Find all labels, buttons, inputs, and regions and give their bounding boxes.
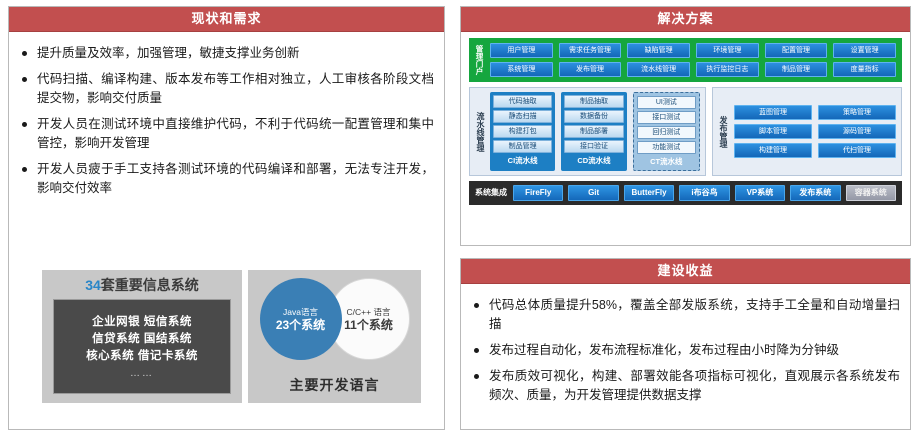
list-item: 提升质量及效率，加强管理，敏捷支撑业务创新 (19, 44, 434, 63)
venn-cpp-count: 11个系统 (344, 318, 393, 333)
systems-count-number: 34 (85, 277, 101, 293)
portal-item-environment-management[interactable]: 环境管理 (696, 43, 759, 58)
cd-step-interface-verify[interactable]: 接口验证 (564, 140, 623, 153)
languages-card: C/C++ 语言 11个系统 Java语言 23个系统 主要开发语言 (248, 270, 421, 403)
list-item: 发布质效可视化，构建、部署效能各项指标可视化，直观展示各系统发布频次、质量，为开… (471, 367, 900, 405)
ct-step-interface-test[interactable]: 接口测试 (637, 111, 696, 124)
portal-item-metrics[interactable]: 度量指标 (833, 62, 896, 77)
portal-item-user-management[interactable]: 用户管理 (490, 43, 553, 58)
integration-item-release-system[interactable]: 发布系统 (790, 185, 840, 201)
list-item: 代码扫描、编译构建、版本发布等工作相对独立，人工审核各阶段文档提交物，影响交付质… (19, 70, 434, 108)
pipeline-columns: 代码抽取 静态扫描 构建打包 制品管理 CI流水线 制品抽取 数据备份 制品部署… (490, 92, 700, 171)
venn-java-count: 23个系统 (276, 318, 325, 333)
management-portal-grid: 用户管理 需求任务管理 缺陷管理 环境管理 配置管理 设置管理 系统管理 发布管… (490, 43, 896, 77)
system-integration-label: 系统集成 (475, 188, 507, 198)
ci-step-build-package[interactable]: 构建打包 (493, 125, 552, 138)
integration-item-container-system[interactable]: 容器系统 (846, 185, 896, 201)
cd-step-artifact-deploy[interactable]: 制品部署 (564, 125, 623, 138)
list-item: 发布过程自动化，发布流程标准化，发布过程由小时降为分钟级 (471, 341, 900, 360)
portal-item-settings-management[interactable]: 设置管理 (833, 43, 896, 58)
cd-step-data-backup[interactable]: 数据备份 (564, 110, 623, 123)
portal-item-release-management[interactable]: 发布管理 (559, 62, 622, 77)
list-item: 代码总体质量提升58%，覆盖全部发版系统，支持手工全量和自动增量扫描 (471, 296, 900, 334)
panel-title-current-status: 现状和需求 (9, 7, 444, 32)
management-portal-label: 管理门户 (475, 45, 484, 75)
ci-step-artifact-management[interactable]: 制品管理 (493, 140, 552, 153)
integration-item-cuckoo[interactable]: i布谷鸟 (679, 185, 729, 201)
pipeline-caption-ct: CT流水线 (637, 156, 696, 167)
panel-solution: 解决方案 管理门户 用户管理 需求任务管理 缺陷管理 环境管理 配置管理 设置管… (460, 6, 911, 246)
integration-item-git[interactable]: Git (568, 185, 618, 201)
portal-item-artifact-management[interactable]: 制品管理 (765, 62, 828, 77)
panel-title-solution: 解决方案 (461, 7, 910, 32)
release-item-codescan-management[interactable]: 代扫管理 (818, 143, 896, 158)
systems-name-box: 企业网银 短信系统 信贷系统 国结系统 核心系统 借记卡系统 …… (53, 299, 231, 394)
list-item: 开发人员疲于手工支持各测试环境的代码编译和部署，无法专注开发，影响交付效率 (19, 160, 434, 198)
portal-item-system-management[interactable]: 系统管理 (490, 62, 553, 77)
portal-item-defect-management[interactable]: 缺陷管理 (627, 43, 690, 58)
release-item-source-management[interactable]: 源码管理 (818, 124, 896, 139)
ct-step-regression-test[interactable]: 回归测试 (637, 126, 696, 139)
systems-count-title: 34套重要信息系统 (85, 276, 199, 294)
release-management-block: 发布管理 蓝图管理 策略管理 脚本管理 源码管理 构建管理 代扫管理 (712, 87, 902, 176)
system-integration-items: FireFly Git ButterFly i布谷鸟 VP系统 发布系统 容器系… (513, 185, 896, 201)
current-status-bullet-list: 提升质量及效率，加强管理，敏捷支撑业务创新 代码扫描、编译构建、版本发布等工作相… (19, 44, 434, 198)
slide-root: 现状和需求 提升质量及效率，加强管理，敏捷支撑业务创新 代码扫描、编译构建、版本… (0, 0, 919, 436)
release-item-script-management[interactable]: 脚本管理 (734, 124, 812, 139)
release-management-label: 发布管理 (718, 116, 728, 148)
benefits-bullet-list: 代码总体质量提升58%，覆盖全部发版系统，支持手工全量和自动增量扫描 发布过程自… (471, 296, 900, 405)
integration-item-vp-system[interactable]: VP系统 (735, 185, 785, 201)
release-item-strategy-management[interactable]: 策略管理 (818, 105, 896, 120)
systems-count-card: 34套重要信息系统 企业网银 短信系统 信贷系统 国结系统 核心系统 借记卡系统… (42, 270, 242, 403)
panel-body-solution: 管理门户 用户管理 需求任务管理 缺陷管理 环境管理 配置管理 设置管理 系统管… (461, 32, 910, 212)
venn-cpp-language: C/C++ 语言 (347, 306, 391, 318)
list-item: 开发人员在测试环境中直接维护代码，不利于代码统一配置管理和集中管控，影响开发管理 (19, 115, 434, 153)
venn-caption: 主要开发语言 (248, 375, 421, 395)
release-item-build-management[interactable]: 构建管理 (734, 143, 812, 158)
release-item-blueprint-management[interactable]: 蓝图管理 (734, 105, 812, 120)
pipeline-management-block: 流水线管理 代码抽取 静态扫描 构建打包 制品管理 CI流水线 制品抽取 数据备… (469, 87, 706, 176)
portal-item-requirement-task-management[interactable]: 需求任务管理 (559, 43, 622, 58)
portal-item-execution-monitor-log[interactable]: 执行监控日志 (696, 62, 759, 77)
system-integration-block: 系统集成 FireFly Git ButterFly i布谷鸟 VP系统 发布系… (469, 181, 902, 205)
ct-step-function-test[interactable]: 功能测试 (637, 141, 696, 154)
panel-title-benefits: 建设收益 (461, 259, 910, 284)
pipeline-caption-ci: CI流水线 (493, 155, 552, 166)
pipeline-column-ct: UI测试 接口测试 回归测试 功能测试 CT流水线 (633, 92, 700, 171)
release-management-grid: 蓝图管理 策略管理 脚本管理 源码管理 构建管理 代扫管理 (734, 105, 896, 158)
portal-item-pipeline-management[interactable]: 流水线管理 (627, 62, 690, 77)
venn-circle-java: Java语言 23个系统 (260, 278, 342, 360)
systems-graphic: 34套重要信息系统 企业网银 短信系统 信贷系统 国结系统 核心系统 借记卡系统… (42, 270, 421, 403)
ci-step-static-scan[interactable]: 静态扫描 (493, 110, 552, 123)
pipeline-column-ci: 代码抽取 静态扫描 构建打包 制品管理 CI流水线 (490, 92, 555, 171)
system-row: 核心系统 借记卡系统 (86, 348, 198, 365)
ct-step-ui-test[interactable]: UI测试 (637, 96, 696, 109)
integration-item-firefly[interactable]: FireFly (513, 185, 563, 201)
panel-body-current-status: 提升质量及效率，加强管理，敏捷支撑业务创新 代码扫描、编译构建、版本发布等工作相… (9, 32, 444, 211)
management-portal-block: 管理门户 用户管理 需求任务管理 缺陷管理 环境管理 配置管理 设置管理 系统管… (469, 38, 902, 82)
systems-count-text: 套重要信息系统 (101, 277, 199, 293)
pipeline-management-label: 流水线管理 (475, 112, 485, 152)
panel-benefits: 建设收益 代码总体质量提升58%，覆盖全部发版系统，支持手工全量和自动增量扫描 … (460, 258, 911, 430)
pipeline-caption-cd: CD流水线 (564, 155, 623, 166)
pipeline-column-cd: 制品抽取 数据备份 制品部署 接口验证 CD流水线 (561, 92, 626, 171)
system-row: 信贷系统 国结系统 (92, 331, 192, 348)
system-ellipsis: …… (130, 368, 154, 379)
pipeline-and-release-row: 流水线管理 代码抽取 静态扫描 构建打包 制品管理 CI流水线 制品抽取 数据备… (469, 87, 902, 176)
panel-body-benefits: 代码总体质量提升58%，覆盖全部发版系统，支持手工全量和自动增量扫描 发布过程自… (461, 284, 910, 418)
cd-step-artifact-extract[interactable]: 制品抽取 (564, 95, 623, 108)
ci-step-code-extract[interactable]: 代码抽取 (493, 95, 552, 108)
panel-current-status: 现状和需求 提升质量及效率，加强管理，敏捷支撑业务创新 代码扫描、编译构建、版本… (8, 6, 445, 430)
system-row: 企业网银 短信系统 (92, 314, 192, 331)
portal-item-config-management[interactable]: 配置管理 (765, 43, 828, 58)
integration-item-butterfly[interactable]: ButterFly (624, 185, 674, 201)
venn-diagram: C/C++ 语言 11个系统 Java语言 23个系统 (260, 278, 410, 360)
system-integration-label-text: 系统集成 (475, 188, 507, 197)
venn-java-language: Java语言 (283, 306, 318, 318)
